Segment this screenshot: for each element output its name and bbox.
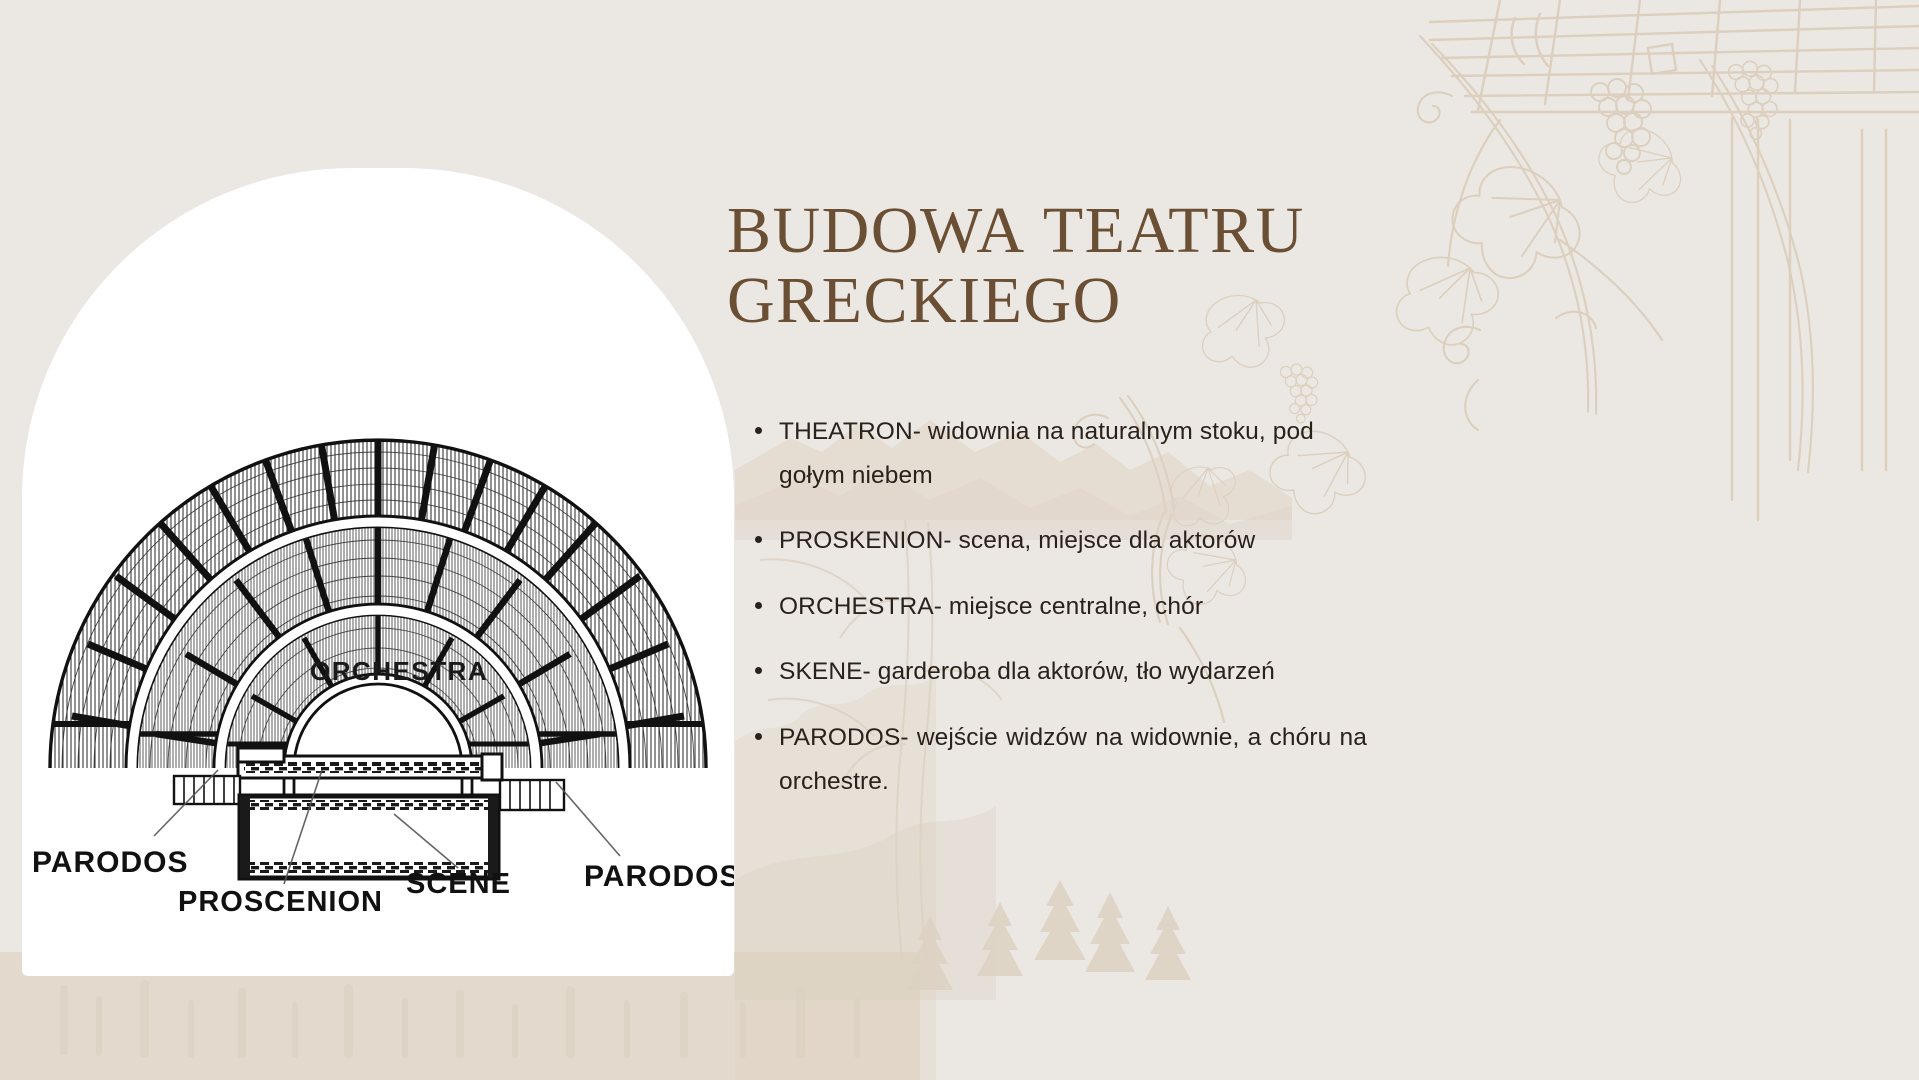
diagram-label-parodos-left: PARODOS [32, 846, 188, 880]
page-title: BUDOWA TEATRU GRECKIEGO [727, 196, 1487, 336]
diagram-label-proscenion: PROSCENION [178, 886, 383, 919]
page-title-line-1: BUDOWA TEATRU [727, 196, 1487, 266]
list-item-text: ORCHESTRA- miejsce centralne, chór [779, 593, 1203, 620]
diagram-label-orchestra: ORCHESTRA [310, 656, 488, 687]
list-item-text: PARODOS- wejście widzów na widownie, a c… [779, 716, 1367, 803]
page-title-line-2: GRECKIEGO [727, 266, 1487, 336]
list-item-text: THEATRON- widownia na naturalnym stoku, … [779, 418, 1314, 489]
theatre-diagram-card: ORCHESTRA PARODOS PARODOS PROSCENION SCE… [22, 168, 734, 976]
list-item: PARODOS- wejście widzów na widownie, a c… [747, 716, 1367, 803]
list-item: ORCHESTRA- miejsce centralne, chór [747, 585, 1367, 629]
content-column: BUDOWA TEATRU GRECKIEGO THEATRON- widown… [727, 0, 1919, 1080]
definition-list: THEATRON- widownia na naturalnym stoku, … [747, 410, 1367, 825]
list-item: PROSKENION- scena, miejsce dla aktorów [747, 519, 1367, 563]
diagram-label-parodos-right: PARODOS [584, 860, 734, 894]
diagram-label-scene: SCENE [406, 868, 511, 901]
list-item-text: PROSKENION- scena, miejsce dla aktorów [779, 527, 1255, 554]
list-item: SKENE- garderoba dla aktorów, tło wydarz… [747, 650, 1367, 694]
list-item-text: SKENE- garderoba dla aktorów, tło wydarz… [779, 658, 1275, 685]
list-item: THEATRON- widownia na naturalnym stoku, … [747, 410, 1367, 497]
